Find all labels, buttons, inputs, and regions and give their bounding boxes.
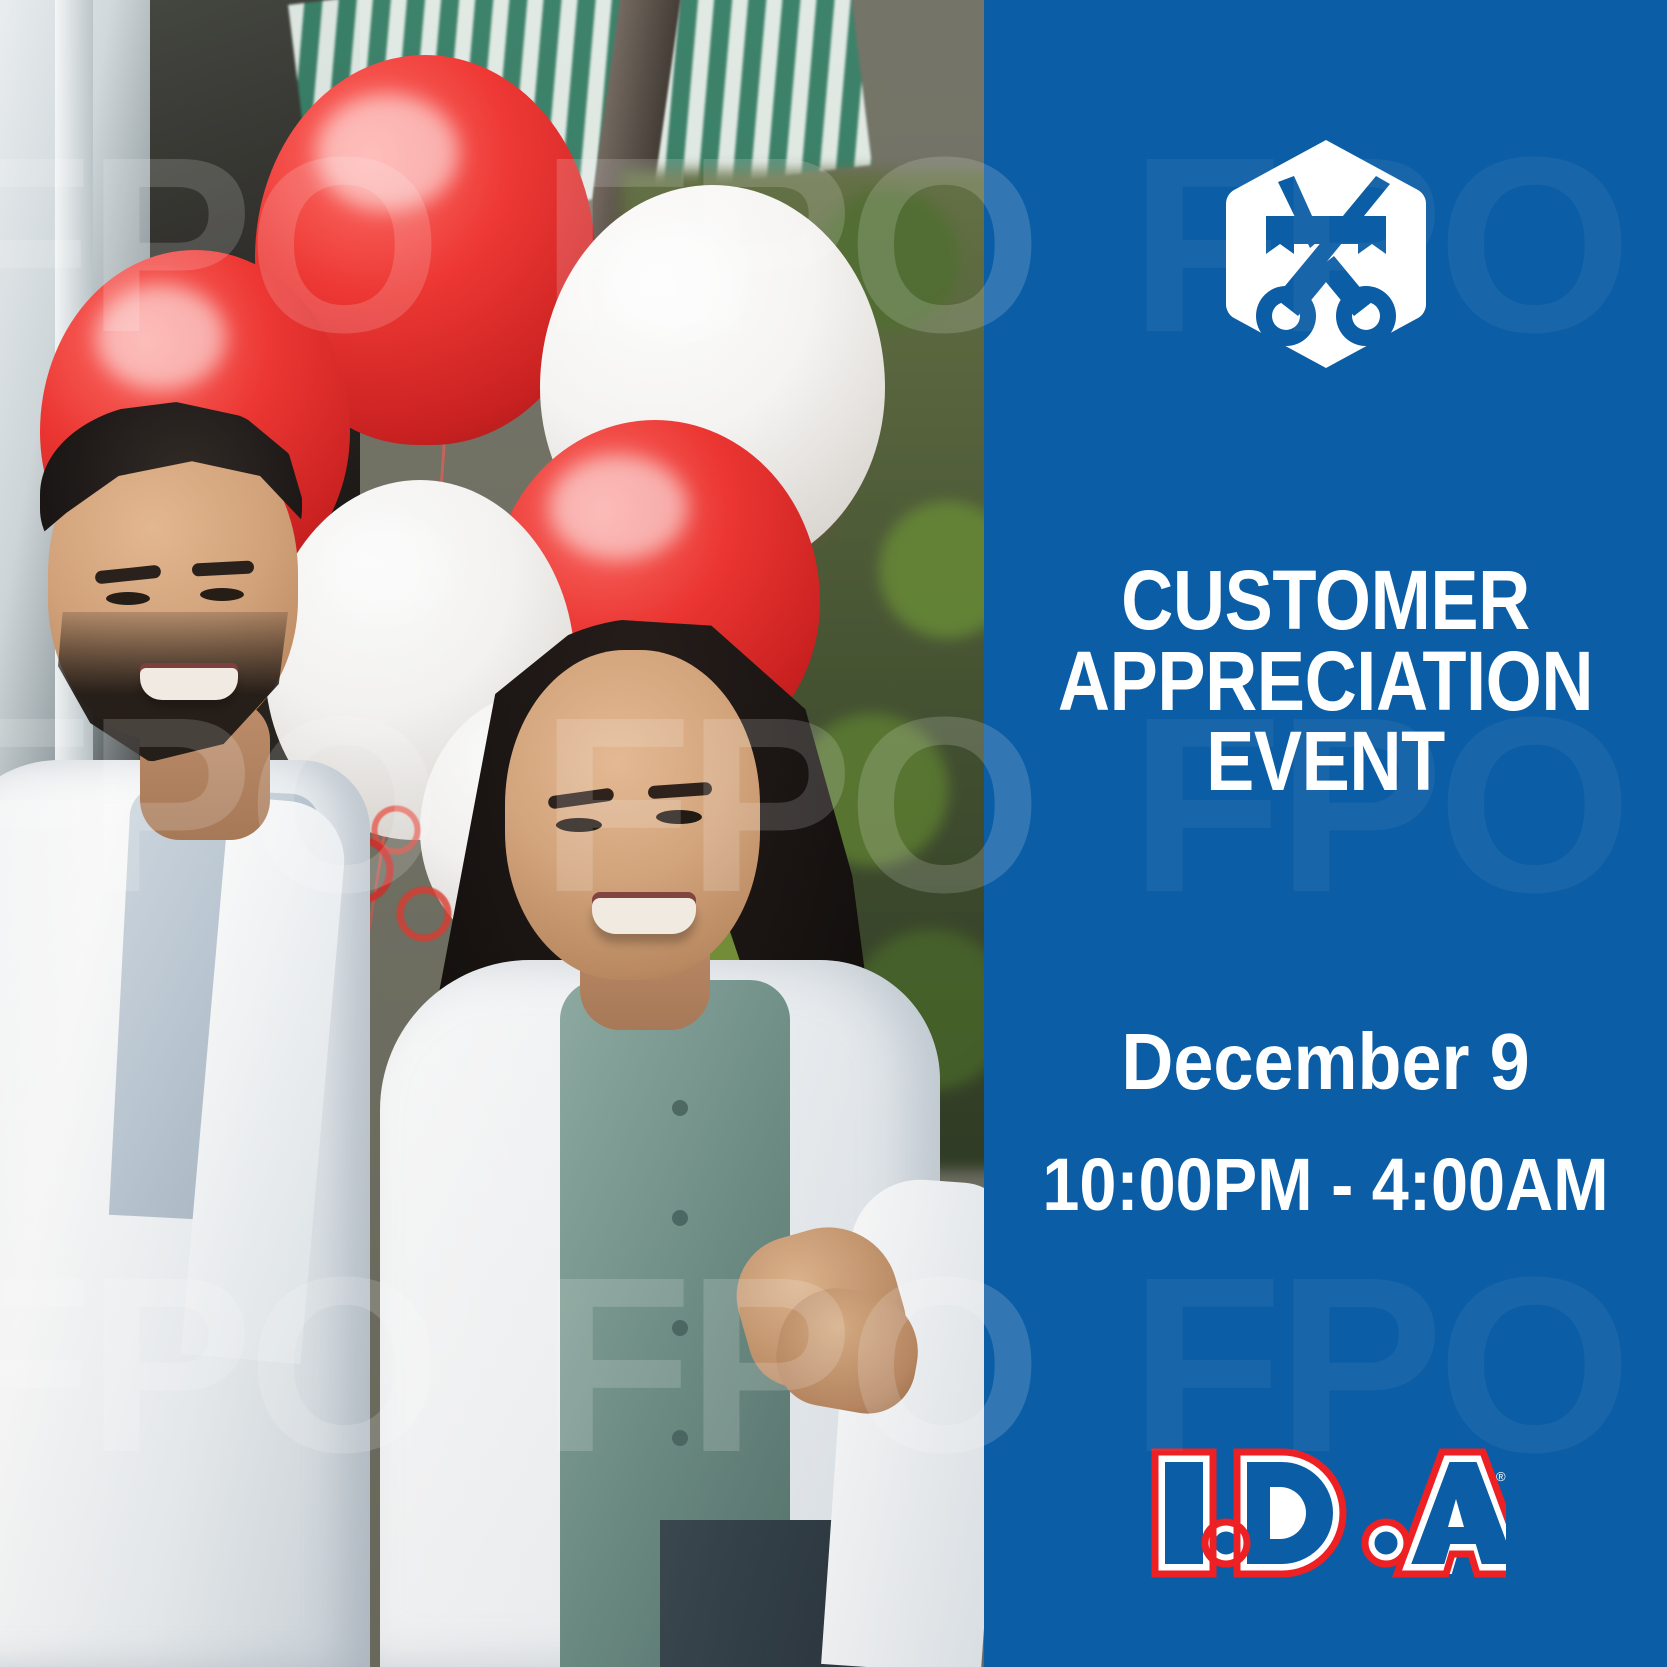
headline-line-1: CUSTOMER [1032, 560, 1619, 641]
event-date: December 9 [1018, 1022, 1633, 1102]
blouse-button [672, 1210, 688, 1226]
woman-eye [556, 818, 602, 832]
event-info-panel: CUSTOMER APPRECIATION EVENT December 9 1… [984, 0, 1667, 1667]
ida-logo: ® [1146, 1447, 1506, 1579]
headline: CUSTOMER APPRECIATION EVENT [1032, 560, 1619, 802]
man-smile [140, 668, 238, 700]
man-eye [200, 588, 244, 601]
registered-trademark-symbol: ® [1496, 1469, 1506, 1484]
blouse-button [672, 1430, 688, 1446]
event-poster: CUSTOMER APPRECIATION EVENT December 9 1… [0, 0, 1667, 1667]
blouse-button [672, 1320, 688, 1336]
photo-scene [0, 0, 984, 1667]
woman-smile [592, 898, 696, 934]
logo-container: ® [984, 1447, 1667, 1579]
headline-line-3: EVENT [1032, 721, 1619, 802]
event-photo [0, 0, 984, 1667]
event-time: 10:00PM - 4:00AM [1018, 1148, 1633, 1222]
man-eye [106, 592, 150, 605]
headline-line-2: APPRECIATION [1032, 641, 1619, 722]
woman-eye [656, 810, 702, 824]
badge-container [984, 138, 1667, 370]
ribbon-cutting-scissors-hexagon-icon [1226, 138, 1426, 370]
blouse-button [672, 1100, 688, 1116]
